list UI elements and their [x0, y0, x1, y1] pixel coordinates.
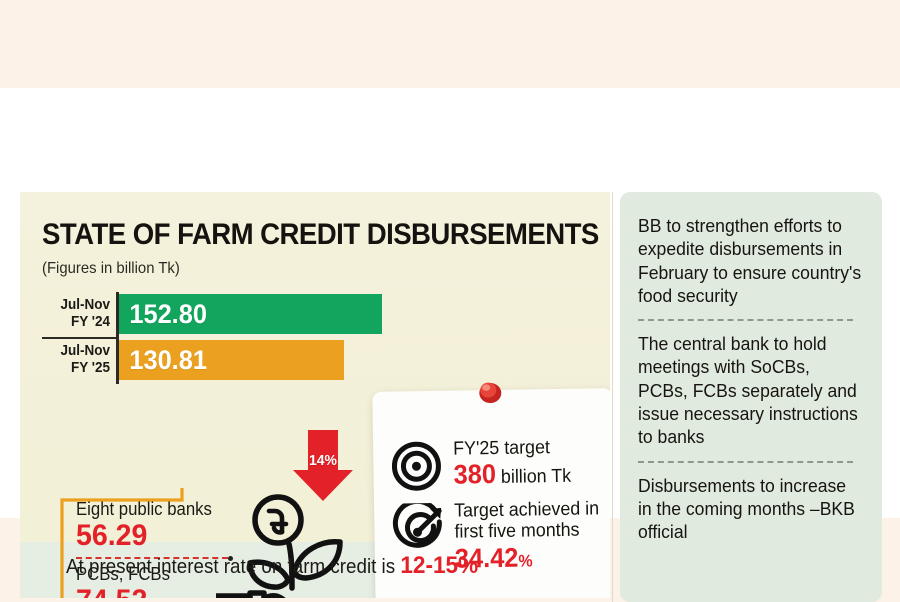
bar-label-fy24-line1: Jul-Nov	[60, 296, 110, 313]
bar-label-fy24-line2: FY '24	[71, 313, 110, 330]
key-points-panel: BB to strengthen efforts to expedite dis…	[620, 192, 882, 602]
pushpin-icon	[475, 379, 505, 405]
page-subtitle: (Figures in billion Tk)	[42, 260, 180, 278]
chart-row-fy25: Jul-Nov FY '25 130.81	[42, 340, 462, 384]
note-item-target: FY'25 target 380 billion Tk	[391, 437, 579, 497]
chart-row-fy24: Jul-Nov FY '24 152.80	[42, 294, 462, 338]
bar-value-fy25: 130.81	[119, 345, 207, 376]
bar-fy24[interactable]: 152.80	[119, 294, 382, 334]
key-point-divider-1	[638, 319, 853, 321]
key-point-3: Disbursements to increase in the coming …	[638, 474, 863, 544]
infographic-canvas: STATE OF FARM CREDIT DISBURSEMENTS (Figu…	[0, 88, 900, 518]
bar-label-fy25: Jul-Nov FY '25	[49, 343, 110, 377]
bar-value-fy24: 152.80	[119, 299, 207, 330]
interest-rate-text: At present interest rate on farm credit …	[66, 556, 395, 578]
interest-rate-value: 12-15%	[400, 552, 478, 579]
target-arrow-icon	[392, 501, 449, 559]
bar-fy25[interactable]: 130.81	[119, 340, 344, 380]
note-achieved-line1: Target achieved in	[454, 498, 599, 522]
key-point-2: The central bank to hold meetings with S…	[638, 332, 863, 448]
bar-label-fy25-line1: Jul-Nov	[60, 342, 110, 359]
bar-chart: Jul-Nov FY '24 152.80 Jul-Nov FY '25 130…	[42, 292, 462, 390]
page-title: STATE OF FARM CREDIT DISBURSEMENTS	[42, 218, 599, 252]
key-point-1: BB to strengthen efforts to expedite dis…	[638, 214, 863, 307]
hand-plant-taka-icon	[216, 492, 396, 598]
note-target-value-row: 380 billion Tk	[453, 458, 571, 490]
panel-divider	[612, 192, 613, 602]
interest-rate-note: At present interest rate on farm credit …	[66, 552, 478, 580]
decline-percent-label: 14%	[294, 452, 352, 469]
key-point-divider-2	[638, 461, 853, 463]
note-achieved-unit: %	[518, 551, 533, 570]
farm-credit-main-card: STATE OF FARM CREDIT DISBURSEMENTS (Figu…	[20, 192, 610, 598]
note-target-value: 380	[453, 459, 496, 490]
note-target-line1: FY'25 target	[453, 437, 571, 460]
bar-label-fy25-line2: FY '25	[71, 359, 110, 376]
note-achieved-line2: first five months	[454, 520, 599, 544]
bar-label-fy24: Jul-Nov FY '24	[49, 297, 110, 331]
note-text-target: FY'25 target 380 billion Tk	[447, 437, 579, 491]
note-target-unit: billion Tk	[501, 466, 571, 488]
target-rings-icon	[391, 439, 448, 497]
